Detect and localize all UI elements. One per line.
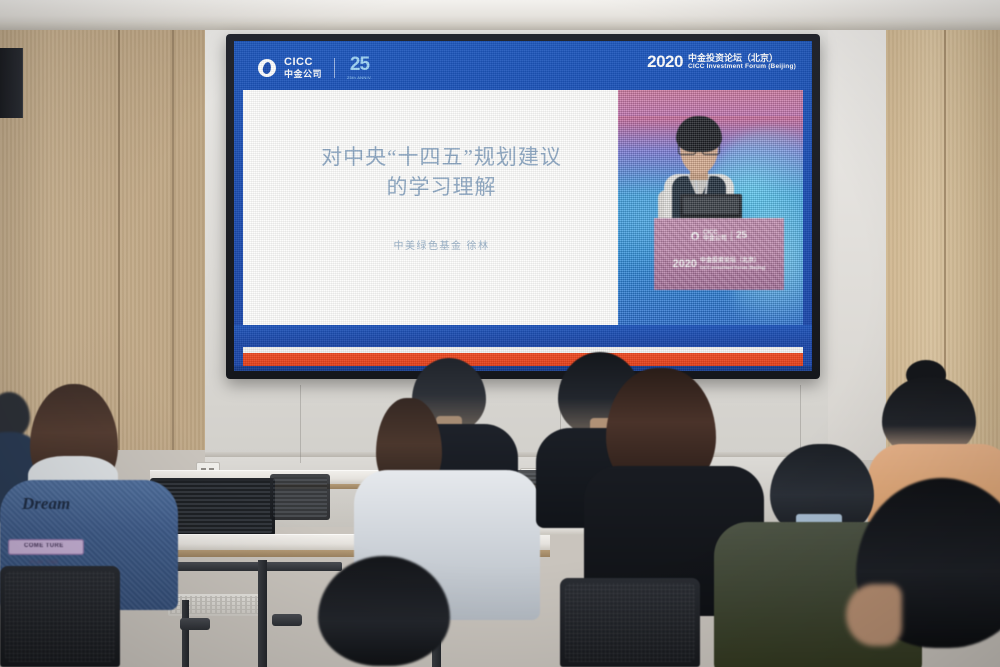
slide-title-line-1: 对中央“十四五”规划建议 (269, 142, 614, 172)
chair[interactable] (0, 566, 120, 667)
ear (846, 584, 902, 646)
jacket-patch-text: COME TURE (24, 543, 64, 549)
jacket-script-text: Dream (22, 494, 70, 514)
slide-footer-blue-band (234, 325, 812, 345)
speaker-video-inset: CICC 中金公司 25 2020 中金投资论坛（北京） CICC Invest… (618, 90, 803, 325)
presentation-slide: CICC 中金公司 25 25th ANNIV. 2020 中金投资论坛（北京）… (234, 41, 812, 371)
inset-scanline-overlay (618, 90, 803, 325)
chair[interactable] (560, 578, 700, 667)
wall-speaker (0, 48, 23, 118)
foot-rest (180, 618, 210, 630)
logo-divider (334, 58, 335, 78)
head (318, 556, 450, 666)
forum-title-en: CICC Investment Forum (Beijing) (688, 63, 796, 70)
foot-rest (272, 614, 302, 626)
desk-leg (258, 560, 267, 667)
slide-subtitle: 中美绿色基金 徐林 (269, 237, 614, 252)
slide-content-area: 对中央“十四五”规划建议 的学习理解 中美绿色基金 徐林 (243, 90, 803, 325)
slide-title-block: 对中央“十四五”规划建议 的学习理解 中美绿色基金 徐林 (269, 142, 614, 252)
slide-footer-red-band (243, 353, 803, 367)
screenshot-root: CICC 中金公司 25 25th ANNIV. 2020 中金投资论坛（北京）… (0, 0, 1000, 667)
forum-branding: 2020 中金投资论坛（北京） CICC Investment Forum (B… (647, 53, 796, 71)
anniversary-badge: 25 25th ANNIV. (347, 55, 372, 80)
cicc-mark-icon (258, 59, 276, 77)
anniversary-caption: 25th ANNIV. (347, 75, 372, 80)
cicc-logo-cn: 中金公司 (284, 70, 322, 79)
audience-member-bottom-center (300, 556, 475, 667)
anniversary-number: 25 (350, 55, 369, 74)
cicc-logo: CICC 中金公司 25 25th ANNIV. (258, 55, 372, 80)
display-screen[interactable]: CICC 中金公司 25 25th ANNIV. 2020 中金投资论坛（北京）… (234, 41, 812, 371)
audience-member-foreground-right (846, 478, 1000, 667)
slide-title-line-2: 的学习理解 (269, 172, 614, 202)
slide-header: CICC 中金公司 25 25th ANNIV. 2020 中金投资论坛（北京）… (234, 41, 812, 90)
cicc-logo-en: CICC (284, 57, 322, 68)
forum-year: 2020 (647, 53, 683, 70)
forum-title-cn: 中金投资论坛（北京） (688, 53, 796, 63)
monitor[interactable] (270, 474, 330, 520)
wall-seam (300, 385, 301, 463)
